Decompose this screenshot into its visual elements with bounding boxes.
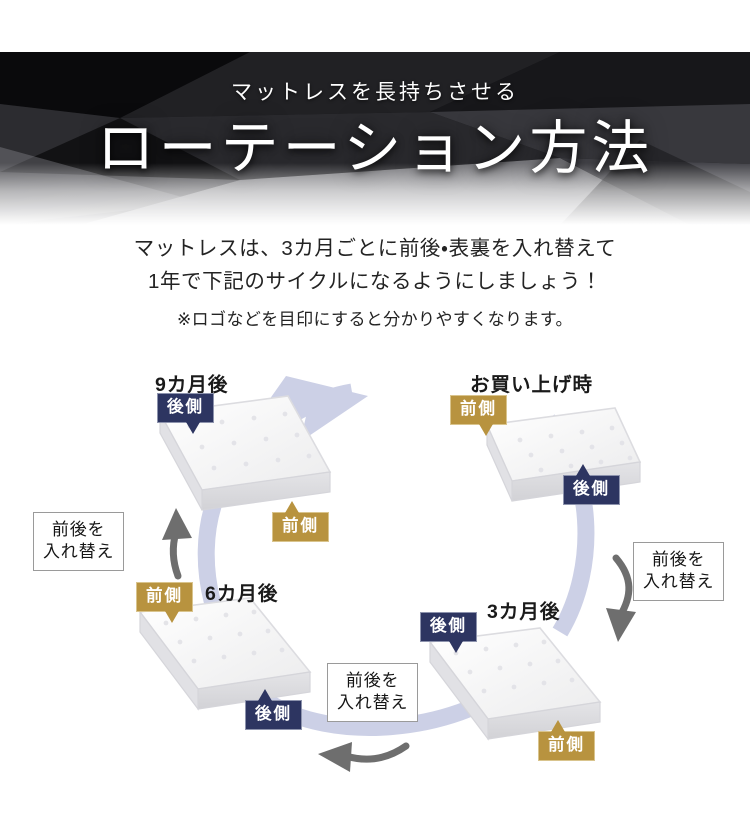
badge-month3-front: 前側	[538, 731, 595, 761]
swap-note-left: 前後を 入れ替え	[33, 512, 124, 571]
badge-label: 後側	[167, 398, 204, 416]
hero-subtitle: マットレスを長持ちさせる	[0, 76, 750, 106]
badge-pointer	[186, 422, 200, 434]
badge-pointer	[285, 501, 299, 513]
hero-title: ローテーション方法	[0, 120, 750, 178]
badge-month9-back: 後側	[157, 393, 214, 423]
swap-arrow-bottom	[318, 742, 406, 772]
badge-pointer	[449, 641, 463, 653]
lead-paragraph: マットレスは、3カ月ごとに前後・表裏を入れ替えて 1年で下記のサイクルになるよう…	[0, 232, 750, 334]
lead-note: ※ロゴなどを目印にすると分かりやすくなります。	[0, 306, 750, 334]
swap-note-line-2: 入れ替え	[43, 541, 114, 563]
stage-title-month3: 3カ月後	[487, 595, 560, 624]
badge-label: 前側	[282, 517, 319, 535]
swap-note-line-1: 前後を	[43, 519, 114, 541]
swap-note-line-1: 前後を	[643, 549, 714, 571]
badge-label: 後側	[573, 480, 610, 498]
badge-label: 前側	[460, 400, 497, 418]
lead-line-1: マットレスは、3カ月ごとに前後・表裏を入れ替えて	[0, 232, 750, 265]
swap-note-line-1: 前後を	[337, 670, 408, 692]
swap-arrow-right	[606, 558, 636, 642]
stage-title-month6: 6カ月後	[205, 577, 278, 606]
stage-title-purchase: お買い上げ時	[470, 368, 593, 397]
badge-label: 前側	[548, 736, 585, 754]
badge-month6-front: 前側	[136, 582, 193, 612]
rotation-cycle-diagram: 1年 お買い上げ時 3カ月後 6カ月後 9カ月後 前側 後側 後側 前側 前側	[0, 350, 750, 817]
badge-pointer	[258, 689, 272, 701]
badge-pointer	[551, 720, 565, 732]
swap-note-bottom: 前後を 入れ替え	[327, 663, 418, 722]
hero-banner: マットレスを長持ちさせる ローテーション方法	[0, 52, 750, 225]
badge-month9-front: 前側	[272, 512, 329, 542]
badge-purchase-front: 前側	[450, 395, 507, 425]
infographic-page: マットレスを長持ちさせる ローテーション方法 マットレスは、3カ月ごとに前後・表…	[0, 0, 750, 817]
badge-month6-back: 後側	[245, 700, 302, 730]
badge-month3-back: 後側	[420, 612, 477, 642]
badge-pointer	[576, 464, 590, 476]
badge-pointer	[165, 611, 179, 623]
badge-label: 後側	[430, 617, 467, 635]
badge-purchase-back: 後側	[563, 475, 620, 505]
badge-label: 後側	[255, 705, 292, 723]
swap-note-right: 前後を 入れ替え	[633, 542, 724, 601]
badge-label: 前側	[146, 587, 183, 605]
lead-line-2: 1年で下記のサイクルになるようにしましょう！	[0, 265, 750, 298]
swap-note-line-2: 入れ替え	[643, 571, 714, 593]
badge-pointer	[479, 424, 493, 436]
swap-arrow-left	[162, 508, 192, 576]
swap-note-line-2: 入れ替え	[337, 692, 408, 714]
